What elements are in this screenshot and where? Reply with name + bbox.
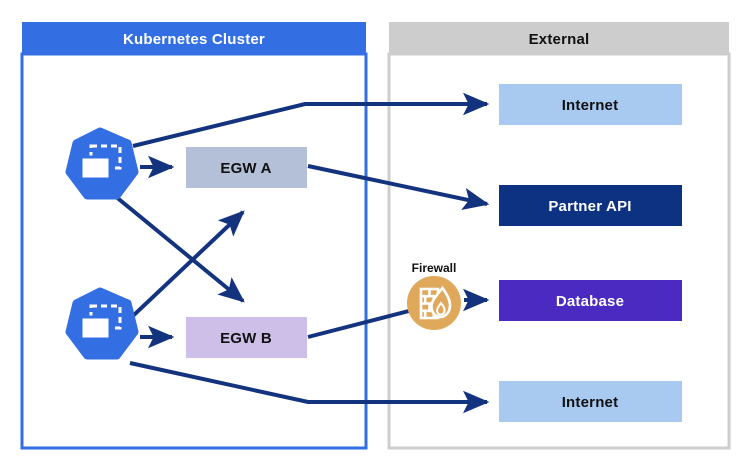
- egress-gateway-diagram: Kubernetes Cluster External: [0, 0, 753, 471]
- panel-external-title: External: [529, 31, 590, 48]
- internet-top-label: Internet: [562, 97, 619, 114]
- node-pod-b[interactable]: [69, 291, 135, 356]
- node-internet-bottom[interactable]: Internet: [499, 381, 682, 422]
- node-partner-api[interactable]: Partner API: [499, 185, 682, 226]
- panel-kubernetes-cluster: Kubernetes Cluster: [22, 22, 366, 448]
- diagram-canvas: Kubernetes Cluster External: [0, 0, 753, 471]
- panel-kubernetes-title: Kubernetes Cluster: [123, 31, 265, 48]
- partner-api-label: Partner API: [548, 198, 631, 215]
- pod-b-solid-rect: [81, 317, 110, 339]
- node-egw-a[interactable]: EGW A: [186, 147, 307, 188]
- database-label: Database: [556, 293, 624, 310]
- firewall-label: Firewall: [412, 261, 457, 275]
- egw-b-label: EGW B: [220, 330, 272, 347]
- egw-a-label: EGW A: [220, 160, 271, 177]
- node-database[interactable]: Database: [499, 280, 682, 321]
- node-internet-top[interactable]: Internet: [499, 84, 682, 125]
- node-egw-b[interactable]: EGW B: [186, 317, 307, 358]
- panel-kubernetes-body: [22, 54, 366, 448]
- pod-a-solid-rect: [81, 157, 110, 179]
- internet-bottom-label: Internet: [562, 394, 619, 411]
- node-pod-a[interactable]: [69, 131, 135, 196]
